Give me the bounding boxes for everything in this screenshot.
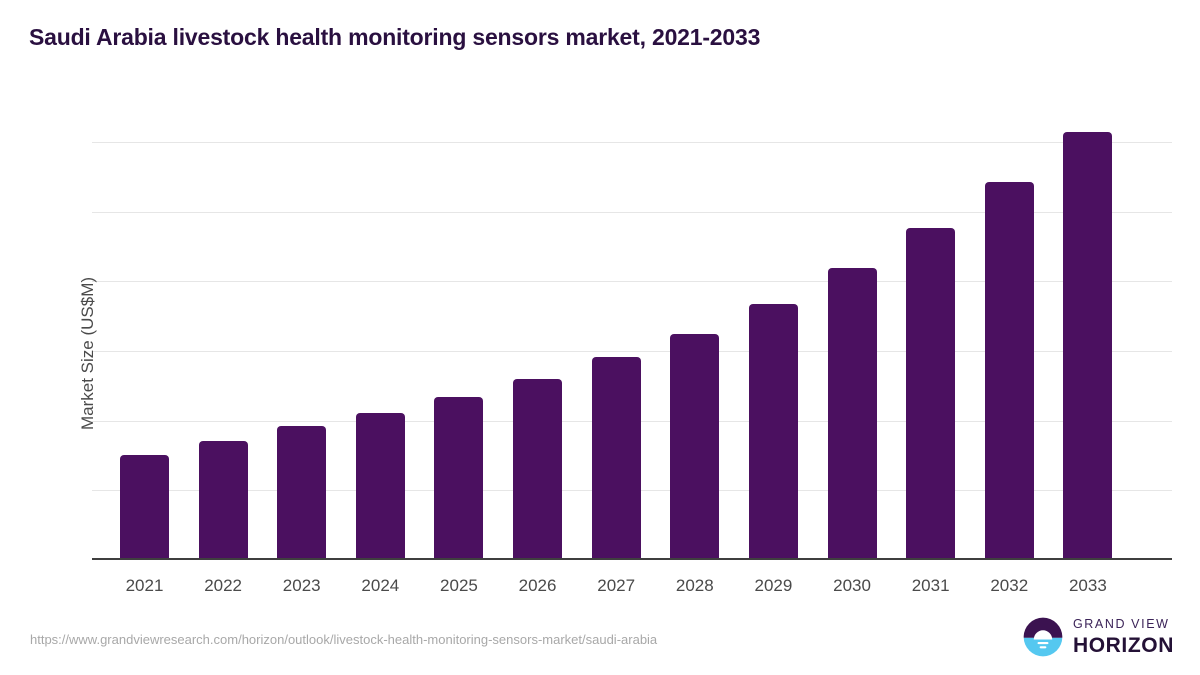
x-axis-tick-label: 2022 <box>183 576 263 596</box>
x-axis-tick-label: 2030 <box>812 576 892 596</box>
x-axis-tick-label: 2032 <box>969 576 1049 596</box>
bar[interactable] <box>120 455 169 560</box>
x-axis-tick-label: 2031 <box>891 576 971 596</box>
bar[interactable] <box>199 441 248 560</box>
x-axis-tick-label: 2026 <box>498 576 578 596</box>
bar-series: 2021202220232024202520262027202820292030… <box>92 100 1172 560</box>
x-axis-tick-label: 2025 <box>419 576 499 596</box>
x-axis-tick-label: 2029 <box>733 576 813 596</box>
bar[interactable] <box>1063 132 1112 560</box>
grand-view-horizon-logo-icon <box>1022 616 1064 658</box>
brand-wordmark: GRAND VIEW HORIZON <box>1073 618 1174 656</box>
bar[interactable] <box>356 413 405 560</box>
brand-logo[interactable]: GRAND VIEW HORIZON <box>1022 616 1174 658</box>
brand-top-text: GRAND VIEW <box>1073 618 1174 631</box>
x-axis-tick-label: 2024 <box>340 576 420 596</box>
bar[interactable] <box>985 182 1034 560</box>
bar[interactable] <box>434 397 483 560</box>
brand-bottom-text: HORIZON <box>1073 635 1174 656</box>
bar[interactable] <box>749 304 798 560</box>
bar[interactable] <box>828 268 877 560</box>
bar[interactable] <box>592 357 641 560</box>
page-title: Saudi Arabia livestock health monitoring… <box>29 24 760 51</box>
x-axis-tick-label: 2021 <box>105 576 185 596</box>
x-axis-tick-label: 2027 <box>576 576 656 596</box>
x-axis-tick-label: 2023 <box>262 576 342 596</box>
source-url[interactable]: https://www.grandviewresearch.com/horizo… <box>30 632 657 647</box>
bar[interactable] <box>670 334 719 561</box>
x-axis-line <box>92 558 1172 560</box>
bar[interactable] <box>277 426 326 560</box>
x-axis-tick-label: 2028 <box>655 576 735 596</box>
x-axis-tick-label: 2033 <box>1048 576 1128 596</box>
chart-card: Saudi Arabia livestock health monitoring… <box>0 0 1200 675</box>
y-axis-title: Market Size (US$M) <box>78 277 98 430</box>
bar[interactable] <box>513 379 562 560</box>
bar[interactable] <box>906 228 955 560</box>
plot-area: 0102030405060 20212022202320242025202620… <box>92 100 1172 560</box>
